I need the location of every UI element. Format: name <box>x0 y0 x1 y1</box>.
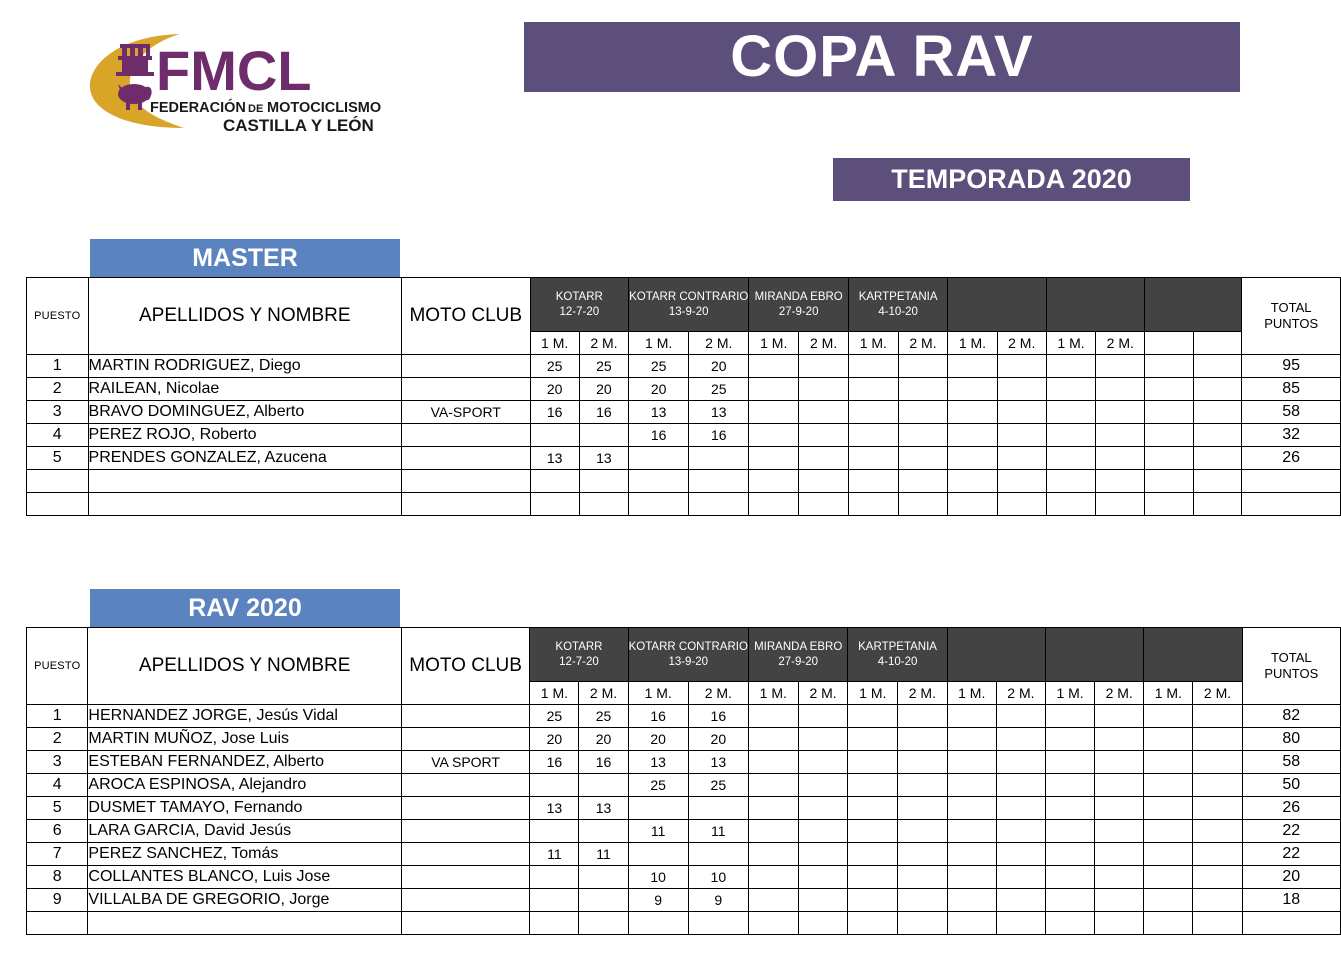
event-header-6 <box>1046 278 1145 332</box>
cell-club <box>402 493 531 516</box>
event-header-5 <box>947 628 1045 682</box>
cell-score-8 <box>898 797 948 820</box>
cell-score-1 <box>530 820 579 843</box>
cell-score-2 <box>579 912 628 935</box>
cell-puesto: 8 <box>27 866 88 889</box>
column-header-total: TOTALPUNTOS <box>1242 628 1340 705</box>
cell-score-12 <box>1095 728 1144 751</box>
cell-score-3: 16 <box>628 705 688 728</box>
cell-score-3 <box>629 470 689 493</box>
event-header-3: MIRANDA EBRO27-9-20 <box>748 628 848 682</box>
manga-header-9: 1 M. <box>947 682 996 705</box>
cell-puesto: 6 <box>27 820 88 843</box>
cell-club <box>401 797 529 820</box>
cell-score-2: 13 <box>579 447 628 470</box>
cell-score-10 <box>996 797 1045 820</box>
cell-score-8 <box>898 820 948 843</box>
cell-score-9 <box>947 774 996 797</box>
cell-score-6 <box>799 401 849 424</box>
standings-table: PUESTOAPELLIDOS Y NOMBREMOTO CLUBKOTARR1… <box>26 627 1341 935</box>
table-row: 9VILLALBA DE GREGORIO, Jorge9918 <box>27 889 1341 912</box>
cell-club <box>401 866 529 889</box>
cell-score-8 <box>898 751 948 774</box>
cell-score-2: 25 <box>579 355 628 378</box>
column-header-puesto: PUESTO <box>27 278 89 355</box>
cell-score-9 <box>947 843 996 866</box>
cell-score-10 <box>996 751 1045 774</box>
cell-score-12 <box>1096 447 1145 470</box>
cell-score-4: 16 <box>688 705 748 728</box>
cell-score-11 <box>1046 401 1095 424</box>
cell-score-7 <box>848 797 898 820</box>
cell-score-2 <box>579 424 628 447</box>
manga-header-14: 2 M. <box>1193 682 1242 705</box>
cell-score-3: 20 <box>629 378 689 401</box>
cell-score-14 <box>1193 355 1241 378</box>
cell-score-10 <box>996 774 1045 797</box>
cell-score-13 <box>1144 843 1193 866</box>
cell-score-14 <box>1193 493 1241 516</box>
cell-score-8 <box>898 378 948 401</box>
manga-header-8: 2 M. <box>898 682 948 705</box>
cell-nombre: PEREZ ROJO, Roberto <box>88 424 402 447</box>
cell-score-1: 13 <box>530 447 579 470</box>
cell-score-13 <box>1144 728 1193 751</box>
cell-score-10 <box>997 401 1046 424</box>
table-row <box>27 470 1341 493</box>
cell-score-4: 16 <box>689 424 749 447</box>
page-title: COPA RAV <box>524 22 1240 92</box>
cell-club <box>402 447 531 470</box>
cell-score-5 <box>748 843 798 866</box>
cell-score-1 <box>530 424 579 447</box>
cell-score-1: 16 <box>530 751 579 774</box>
table-row: 4PEREZ ROJO, Roberto161632 <box>27 424 1341 447</box>
cell-score-1 <box>530 493 579 516</box>
manga-header-10: 2 M. <box>997 332 1046 355</box>
cell-score-11 <box>1046 424 1095 447</box>
cell-score-10 <box>997 378 1046 401</box>
cell-score-5 <box>749 470 799 493</box>
cell-score-2 <box>579 470 628 493</box>
cell-score-2: 20 <box>579 378 628 401</box>
cell-score-10 <box>997 355 1046 378</box>
cell-club: VA-SPORT <box>402 401 531 424</box>
manga-header-12: 2 M. <box>1096 332 1145 355</box>
cell-score-13 <box>1145 378 1193 401</box>
cell-score-6 <box>798 912 848 935</box>
cell-score-4: 20 <box>689 355 749 378</box>
cell-score-5 <box>748 728 798 751</box>
cell-total: 58 <box>1242 401 1341 424</box>
cell-score-14 <box>1193 843 1242 866</box>
cell-score-13 <box>1144 912 1193 935</box>
cell-puesto <box>27 493 89 516</box>
cell-score-12 <box>1095 912 1144 935</box>
cell-total: 50 <box>1242 774 1340 797</box>
cell-score-14 <box>1193 705 1242 728</box>
cell-total: 26 <box>1242 447 1341 470</box>
cell-score-7 <box>848 820 898 843</box>
cell-score-4 <box>688 912 748 935</box>
cell-total: 80 <box>1242 728 1340 751</box>
manga-header-1: 1 M. <box>530 682 579 705</box>
cell-score-7 <box>848 705 898 728</box>
cell-score-3 <box>628 912 688 935</box>
cell-score-1 <box>530 774 579 797</box>
cell-score-5 <box>748 820 798 843</box>
event-header-6 <box>1045 628 1143 682</box>
cell-score-8 <box>898 774 948 797</box>
cell-score-11 <box>1045 889 1094 912</box>
cell-score-2: 25 <box>579 705 628 728</box>
cell-puesto: 1 <box>27 355 89 378</box>
manga-header-3: 1 M. <box>628 682 688 705</box>
cell-nombre: AROCA ESPINOSA, Alejandro <box>88 774 401 797</box>
cell-score-2: 20 <box>579 728 628 751</box>
cell-score-7 <box>848 774 898 797</box>
cell-score-12 <box>1096 378 1145 401</box>
table-row: 7PEREZ SANCHEZ, Tomás111122 <box>27 843 1341 866</box>
cell-score-9 <box>948 378 997 401</box>
cell-score-14 <box>1193 447 1241 470</box>
cell-score-4 <box>689 493 749 516</box>
cell-score-9 <box>947 889 996 912</box>
cell-score-12 <box>1095 705 1144 728</box>
table-row: 5DUSMET TAMAYO, Fernando131326 <box>27 797 1341 820</box>
cell-score-11 <box>1046 447 1095 470</box>
column-header-total: TOTALPUNTOS <box>1242 278 1341 355</box>
manga-header-1: 1 M. <box>530 332 579 355</box>
cell-score-7 <box>848 912 898 935</box>
cell-score-12 <box>1096 424 1145 447</box>
cell-score-10 <box>997 493 1046 516</box>
cell-score-7 <box>848 424 898 447</box>
standings-table: PUESTOAPELLIDOS Y NOMBREMOTO CLUBKOTARR1… <box>26 277 1341 516</box>
cell-total: 22 <box>1242 843 1340 866</box>
cell-score-5 <box>748 774 798 797</box>
cell-score-1: 25 <box>530 355 579 378</box>
cell-nombre: MARTIN RODRIGUEZ, Diego <box>88 355 402 378</box>
cell-score-11 <box>1045 912 1094 935</box>
cell-score-13 <box>1144 774 1193 797</box>
manga-header-13 <box>1145 332 1193 355</box>
cell-score-1 <box>530 889 579 912</box>
page-header: FMCL FEDERACIÓN DE MOTOCICLISMO CASTILLA… <box>0 0 1341 215</box>
cell-score-9 <box>948 447 997 470</box>
fmcl-logo-svg: FMCL FEDERACIÓN DE MOTOCICLISMO CASTILLA… <box>88 28 418 138</box>
cell-club <box>401 843 529 866</box>
cell-score-10 <box>997 424 1046 447</box>
cell-score-4 <box>688 843 748 866</box>
cell-score-1 <box>530 866 579 889</box>
event-header-4: KARTPETANIA4-10-20 <box>848 628 947 682</box>
cell-nombre <box>88 470 402 493</box>
fmcl-logo: FMCL FEDERACIÓN DE MOTOCICLISMO CASTILLA… <box>88 28 418 138</box>
table-row: 5PRENDES GONZALEZ, Azucena131326 <box>27 447 1341 470</box>
cell-score-10 <box>996 728 1045 751</box>
cell-nombre: PEREZ SANCHEZ, Tomás <box>88 843 401 866</box>
cell-score-5 <box>749 355 799 378</box>
cell-puesto: 2 <box>27 728 88 751</box>
event-header-5 <box>948 278 1047 332</box>
cell-score-8 <box>898 470 948 493</box>
cell-nombre <box>88 493 402 516</box>
cell-puesto: 4 <box>27 774 88 797</box>
cell-score-12 <box>1095 751 1144 774</box>
cell-score-13 <box>1144 751 1193 774</box>
cell-club: VA SPORT <box>401 751 529 774</box>
cell-score-13 <box>1144 705 1193 728</box>
cell-score-6 <box>798 797 848 820</box>
event-header-4: KARTPETANIA4-10-20 <box>848 278 947 332</box>
table-row: 6LARA GARCIA, David Jesús111122 <box>27 820 1341 843</box>
table-row: 2MARTIN MUÑOZ, Jose Luis2020202080 <box>27 728 1341 751</box>
cell-score-2: 16 <box>579 401 628 424</box>
event-header-7 <box>1145 278 1242 332</box>
cell-score-14 <box>1193 728 1242 751</box>
cell-score-6 <box>798 889 848 912</box>
cell-score-13 <box>1144 820 1193 843</box>
cell-score-13 <box>1145 493 1193 516</box>
table-row: 3ESTEBAN FERNANDEZ, AlbertoVA SPORT16161… <box>27 751 1341 774</box>
cell-score-11 <box>1046 378 1095 401</box>
cell-score-3 <box>628 843 688 866</box>
manga-header-2: 2 M. <box>579 332 628 355</box>
cell-total <box>1242 912 1340 935</box>
cell-score-1: 20 <box>530 728 579 751</box>
cell-club <box>401 820 529 843</box>
cell-score-10 <box>996 843 1045 866</box>
cell-score-9 <box>947 705 996 728</box>
cell-score-4: 25 <box>689 378 749 401</box>
table-row <box>27 493 1341 516</box>
table-row: 1MARTIN RODRIGUEZ, Diego2525252095 <box>27 355 1341 378</box>
section-title-1: RAV 2020 <box>90 589 400 627</box>
cell-score-10 <box>996 912 1045 935</box>
cell-score-12 <box>1095 843 1144 866</box>
cell-total: 26 <box>1242 797 1340 820</box>
cell-score-6 <box>799 378 849 401</box>
cell-total: 22 <box>1242 820 1340 843</box>
cell-score-3: 25 <box>629 355 689 378</box>
event-header-7 <box>1144 628 1242 682</box>
cell-score-11 <box>1045 797 1094 820</box>
cell-score-9 <box>948 493 997 516</box>
cell-score-3: 9 <box>628 889 688 912</box>
manga-header-3: 1 M. <box>629 332 689 355</box>
cell-score-5 <box>749 493 799 516</box>
cell-club <box>401 889 529 912</box>
cell-club <box>401 728 529 751</box>
cell-score-7 <box>848 751 898 774</box>
cell-score-13 <box>1145 424 1193 447</box>
cell-score-3: 20 <box>628 728 688 751</box>
event-header-1: KOTARR12-7-20 <box>530 278 629 332</box>
cell-score-2 <box>579 820 628 843</box>
cell-score-5 <box>748 912 798 935</box>
cell-score-6 <box>798 843 848 866</box>
logo-line2: CASTILLA Y LEÓN <box>223 116 374 135</box>
cell-score-5 <box>749 424 799 447</box>
cell-score-7 <box>848 728 898 751</box>
cell-score-13 <box>1144 797 1193 820</box>
cell-score-11 <box>1045 728 1094 751</box>
cell-puesto: 1 <box>27 705 88 728</box>
cell-score-8 <box>898 705 948 728</box>
cell-nombre: COLLANTES BLANCO, Luis Jose <box>88 866 401 889</box>
cell-nombre: BRAVO DOMINGUEZ, Alberto <box>88 401 402 424</box>
header-row-events: PUESTOAPELLIDOS Y NOMBREMOTO CLUBKOTARR1… <box>27 628 1341 682</box>
cell-score-7 <box>848 470 898 493</box>
section-title-0: MASTER <box>90 239 400 277</box>
cell-puesto: 4 <box>27 424 89 447</box>
cell-score-1 <box>530 912 579 935</box>
cell-score-13 <box>1145 447 1193 470</box>
cell-score-10 <box>996 889 1045 912</box>
table-row: 2RAILEAN, Nicolae2020202585 <box>27 378 1341 401</box>
cell-score-7 <box>848 447 898 470</box>
cell-score-6 <box>798 774 848 797</box>
table-row: 4AROCA ESPINOSA, Alejandro252550 <box>27 774 1341 797</box>
cell-score-8 <box>898 424 948 447</box>
cell-score-9 <box>947 866 996 889</box>
cell-nombre: DUSMET TAMAYO, Fernando <box>88 797 401 820</box>
cell-score-3: 11 <box>628 820 688 843</box>
cell-score-8 <box>898 493 948 516</box>
cell-score-12 <box>1096 470 1145 493</box>
cell-score-12 <box>1095 774 1144 797</box>
manga-header-14 <box>1193 332 1241 355</box>
cell-total: 85 <box>1242 378 1341 401</box>
cell-score-10 <box>997 470 1046 493</box>
cell-puesto: 5 <box>27 797 88 820</box>
cell-score-8 <box>898 355 948 378</box>
manga-header-5: 1 M. <box>749 332 799 355</box>
cell-score-5 <box>748 751 798 774</box>
cell-score-12 <box>1096 355 1145 378</box>
cell-puesto: 5 <box>27 447 89 470</box>
manga-header-8: 2 M. <box>898 332 948 355</box>
event-header-3: MIRANDA EBRO27-9-20 <box>749 278 849 332</box>
cell-score-6 <box>798 705 848 728</box>
column-header-club: MOTO CLUB <box>401 628 529 705</box>
cell-score-5 <box>749 447 799 470</box>
cell-score-9 <box>947 820 996 843</box>
manga-header-7: 1 M. <box>848 332 898 355</box>
event-header-2: KOTARR CONTRARIO13-9-20 <box>629 278 749 332</box>
cell-score-4: 10 <box>688 866 748 889</box>
cell-score-7 <box>848 378 898 401</box>
cell-score-8 <box>898 889 948 912</box>
cell-score-4: 13 <box>688 751 748 774</box>
cell-score-11 <box>1045 843 1094 866</box>
cell-score-4: 11 <box>688 820 748 843</box>
cell-score-3: 16 <box>629 424 689 447</box>
cell-score-11 <box>1045 751 1094 774</box>
cell-total: 32 <box>1242 424 1341 447</box>
column-header-puesto: PUESTO <box>27 628 88 705</box>
cell-score-2 <box>579 866 628 889</box>
cell-nombre <box>88 912 401 935</box>
cell-score-6 <box>798 728 848 751</box>
cell-score-7 <box>848 866 898 889</box>
cell-score-6 <box>799 355 849 378</box>
header-row-events: PUESTOAPELLIDOS Y NOMBREMOTO CLUBKOTARR1… <box>27 278 1341 332</box>
cell-score-3: 13 <box>628 751 688 774</box>
cell-score-6 <box>798 751 848 774</box>
cell-score-14 <box>1193 470 1241 493</box>
column-header-club: MOTO CLUB <box>402 278 531 355</box>
cell-score-7 <box>848 889 898 912</box>
cell-score-9 <box>947 728 996 751</box>
cell-score-3 <box>629 493 689 516</box>
cell-score-14 <box>1193 912 1242 935</box>
cell-score-6 <box>799 447 849 470</box>
logo-acronym: FMCL <box>156 39 312 102</box>
cell-score-12 <box>1095 820 1144 843</box>
cell-score-7 <box>848 401 898 424</box>
cell-score-8 <box>898 843 948 866</box>
cell-score-6 <box>799 424 849 447</box>
cell-score-9 <box>947 751 996 774</box>
cell-score-2: 11 <box>579 843 628 866</box>
cell-nombre: LARA GARCIA, David Jesús <box>88 820 401 843</box>
cell-score-2: 16 <box>579 751 628 774</box>
cell-score-1: 16 <box>530 401 579 424</box>
manga-header-7: 1 M. <box>848 682 898 705</box>
cell-score-14 <box>1193 820 1242 843</box>
cell-nombre: VILLALBA DE GREGORIO, Jorge <box>88 889 401 912</box>
cell-score-14 <box>1193 866 1242 889</box>
cell-score-11 <box>1045 866 1094 889</box>
cell-score-12 <box>1096 401 1145 424</box>
cell-score-5 <box>748 889 798 912</box>
cell-score-8 <box>898 401 948 424</box>
table-row: 1HERNANDEZ JORGE, Jesús Vidal2525161682 <box>27 705 1341 728</box>
cell-score-14 <box>1193 774 1242 797</box>
cell-score-4 <box>688 797 748 820</box>
cell-club <box>401 774 529 797</box>
cell-score-9 <box>948 355 997 378</box>
cell-score-1: 20 <box>530 378 579 401</box>
cell-nombre: MARTIN MUÑOZ, Jose Luis <box>88 728 401 751</box>
cell-score-9 <box>948 470 997 493</box>
cell-score-2 <box>579 774 628 797</box>
cell-score-3: 10 <box>628 866 688 889</box>
cell-score-12 <box>1095 889 1144 912</box>
manga-header-4: 2 M. <box>689 332 749 355</box>
cell-score-9 <box>947 912 996 935</box>
cell-score-3 <box>628 797 688 820</box>
cell-score-2 <box>579 889 628 912</box>
column-header-nombre: APELLIDOS Y NOMBRE <box>88 628 401 705</box>
season-badge: TEMPORADA 2020 <box>833 158 1190 201</box>
cell-total <box>1242 493 1341 516</box>
cell-score-7 <box>848 355 898 378</box>
cell-total <box>1242 470 1341 493</box>
cell-score-2: 13 <box>579 797 628 820</box>
logo-line1-a: FEDERACIÓN <box>150 98 246 116</box>
cell-score-13 <box>1144 889 1193 912</box>
event-header-1: KOTARR12-7-20 <box>530 628 628 682</box>
cell-score-11 <box>1046 470 1095 493</box>
cell-score-8 <box>898 912 948 935</box>
cell-puesto: 3 <box>27 751 88 774</box>
cell-score-3 <box>629 447 689 470</box>
manga-header-12: 2 M. <box>1095 682 1144 705</box>
cell-score-12 <box>1096 493 1145 516</box>
